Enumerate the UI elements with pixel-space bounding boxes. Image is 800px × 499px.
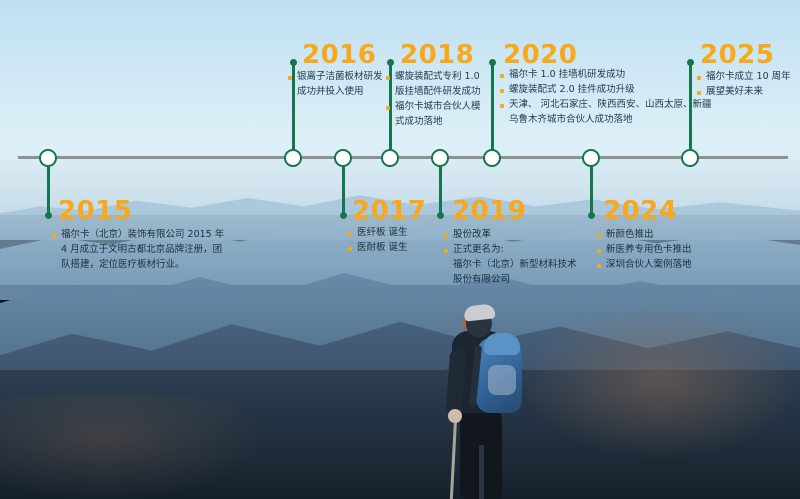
milestone-block-2015: 福尔卡（北京）装饰有限公司 2015 年 4 月成立于文明古都北京品牌注册，团 … bbox=[52, 228, 224, 273]
stem-dot-2015 bbox=[45, 212, 52, 219]
bullet-item: 医纤板 诞生 bbox=[348, 226, 408, 240]
bullet-dot-icon bbox=[597, 264, 601, 268]
bullet-text: 福尔卡（北京）装饰有限公司 2015 年 bbox=[61, 228, 224, 242]
bullet-item: 福尔卡（北京）装饰有限公司 2015 年 bbox=[52, 228, 224, 242]
bullet-dot-icon bbox=[386, 76, 390, 80]
milestone-block-2017: 医纤板 诞生 医耐板 诞生 bbox=[348, 226, 408, 256]
stem-dot-2020 bbox=[489, 59, 496, 66]
bullet-item: 成功并投入使用 bbox=[297, 85, 383, 99]
milestone-block-2025: 福尔卡成立 10 周年 展望美好未来 bbox=[697, 70, 791, 100]
stem-dot-2019 bbox=[437, 212, 444, 219]
bullet-item: 深圳合伙人案例落地 bbox=[597, 258, 692, 272]
hiker-trekking-pole bbox=[450, 417, 457, 499]
timeline-node-2025[interactable] bbox=[681, 149, 699, 167]
year-label-2017: 2017 bbox=[352, 196, 426, 226]
year-label-2019: 2019 bbox=[452, 196, 526, 226]
bullet-item: 福尔卡 1.0 挂墙机研发成功 bbox=[500, 68, 712, 82]
bullet-text: 式成功落地 bbox=[395, 115, 443, 129]
bullet-dot-icon bbox=[597, 249, 601, 253]
sunlight-glow-left bbox=[0, 395, 260, 499]
timeline-node-2019[interactable] bbox=[431, 149, 449, 167]
bullet-text: 螺旋装配式专利 1.0 bbox=[395, 70, 480, 84]
bullet-text: 乌鲁木齐城市合伙人成功落地 bbox=[509, 113, 633, 127]
bullet-text: 银离子洁菌板材研发 bbox=[297, 70, 383, 84]
bullet-item: 新医养专用色卡推出 bbox=[597, 243, 692, 257]
bullet-text: 展望美好未来 bbox=[706, 85, 763, 99]
bullet-text: 版挂墙配件研发成功 bbox=[395, 85, 481, 99]
bullet-item: 福尔卡城市合伙人模 bbox=[386, 100, 481, 114]
hiker-hand bbox=[448, 409, 462, 423]
milestone-block-2019: 股份改革 正式更名为: 福尔卡（北京）新型材料技术 股份有限公司 bbox=[444, 228, 577, 288]
bullet-item: 银离子洁菌板材研发 bbox=[288, 70, 383, 84]
bullet-text: 股份有限公司 bbox=[453, 273, 510, 287]
bullet-item: 展望美好未来 bbox=[697, 85, 791, 99]
year-label-2018: 2018 bbox=[400, 40, 474, 70]
bullet-text: 天津、 河北石家庄、陕西西安、山西太原、新疆 bbox=[509, 98, 712, 112]
stem-dot-2018 bbox=[387, 59, 394, 66]
year-label-2025: 2025 bbox=[700, 40, 774, 70]
timeline-node-2015[interactable] bbox=[39, 149, 57, 167]
year-label-2016: 2016 bbox=[302, 40, 376, 70]
bullet-dot-icon bbox=[348, 232, 352, 236]
bullet-text: 螺旋装配式 2.0 挂件成功升级 bbox=[509, 83, 635, 97]
bullet-item: 版挂墙配件研发成功 bbox=[395, 85, 481, 99]
milestone-block-2016: 银离子洁菌板材研发 成功并投入使用 bbox=[288, 70, 383, 100]
bullet-dot-icon bbox=[386, 106, 390, 110]
stem-2024 bbox=[590, 167, 593, 216]
bullet-dot-icon bbox=[444, 234, 448, 238]
bullet-dot-icon bbox=[697, 76, 701, 80]
hiker-backpack-top bbox=[484, 333, 520, 355]
timeline-node-2020[interactable] bbox=[483, 149, 501, 167]
stem-2017 bbox=[342, 167, 345, 216]
bullet-dot-icon bbox=[288, 76, 292, 80]
bullet-item: 医耐板 诞生 bbox=[348, 241, 408, 255]
stem-dot-2017 bbox=[340, 212, 347, 219]
bullet-text: 医纤板 诞生 bbox=[357, 226, 408, 240]
bullet-dot-icon bbox=[697, 91, 701, 95]
bullet-dot-icon bbox=[52, 234, 56, 238]
bullet-item: 螺旋装配式 2.0 挂件成功升级 bbox=[500, 83, 712, 97]
hiker-backpack-panel bbox=[488, 365, 516, 395]
bullet-item: 股份改革 bbox=[444, 228, 577, 242]
bullet-text: 医耐板 诞生 bbox=[357, 241, 408, 255]
stem-2020 bbox=[491, 62, 494, 152]
year-label-2015: 2015 bbox=[58, 196, 132, 226]
bullet-dot-icon bbox=[597, 234, 601, 238]
timeline-node-2016[interactable] bbox=[284, 149, 302, 167]
sunlight-glow-right bbox=[520, 300, 800, 460]
milestone-block-2024: 新颜色推出 新医养专用色卡推出 深圳合伙人案例落地 bbox=[597, 228, 692, 273]
stem-dot-2024 bbox=[588, 212, 595, 219]
bullet-dot-icon bbox=[500, 104, 504, 108]
bullet-text: 股份改革 bbox=[453, 228, 491, 242]
stem-dot-2016 bbox=[290, 59, 297, 66]
bullet-item: 式成功落地 bbox=[395, 115, 481, 129]
timeline-infographic: 2015 福尔卡（北京）装饰有限公司 2015 年 4 月成立于文明古都北京品牌… bbox=[0, 0, 800, 499]
bullet-dot-icon bbox=[500, 89, 504, 93]
bullet-item: 天津、 河北石家庄、陕西西安、山西太原、新疆 bbox=[500, 98, 712, 112]
year-label-2020: 2020 bbox=[503, 40, 577, 70]
timeline-node-2018[interactable] bbox=[381, 149, 399, 167]
year-label-2024: 2024 bbox=[603, 196, 677, 226]
bullet-item: 福尔卡成立 10 周年 bbox=[697, 70, 791, 84]
milestone-block-2018: 螺旋装配式专利 1.0 版挂墙配件研发成功 福尔卡城市合伙人模 式成功落地 bbox=[386, 70, 481, 130]
bullet-item: 福尔卡（北京）新型材料技术 bbox=[453, 258, 577, 272]
hiker-leg-gap bbox=[479, 445, 484, 499]
bullet-dot-icon bbox=[444, 249, 448, 253]
timeline-node-2024[interactable] bbox=[582, 149, 600, 167]
hiker-figure bbox=[432, 305, 552, 499]
bullet-text: 新医养专用色卡推出 bbox=[606, 243, 692, 257]
bullet-item: 螺旋装配式专利 1.0 bbox=[386, 70, 481, 84]
bullet-text: 4 月成立于文明古都北京品牌注册，团 bbox=[61, 243, 222, 257]
bullet-item: 队搭建，定位医疗板材行业。 bbox=[61, 258, 224, 272]
bullet-text: 新颜色推出 bbox=[606, 228, 654, 242]
bullet-item: 正式更名为: bbox=[444, 243, 577, 257]
stem-dot-2025 bbox=[687, 59, 694, 66]
stem-2019 bbox=[439, 167, 442, 216]
bullet-item: 乌鲁木齐城市合伙人成功落地 bbox=[509, 113, 712, 127]
bullet-text: 福尔卡成立 10 周年 bbox=[706, 70, 791, 84]
bullet-text: 队搭建，定位医疗板材行业。 bbox=[61, 258, 185, 272]
bullet-text: 福尔卡（北京）新型材料技术 bbox=[453, 258, 577, 272]
bullet-text: 福尔卡 1.0 挂墙机研发成功 bbox=[509, 68, 625, 82]
bullet-item: 4 月成立于文明古都北京品牌注册，团 bbox=[61, 243, 224, 257]
stem-2025 bbox=[689, 62, 692, 152]
stem-2015 bbox=[47, 167, 50, 216]
bullet-dot-icon bbox=[500, 74, 504, 78]
timeline-node-2017[interactable] bbox=[334, 149, 352, 167]
bullet-item: 新颜色推出 bbox=[597, 228, 692, 242]
bullet-text: 福尔卡城市合伙人模 bbox=[395, 100, 481, 114]
timeline-axis bbox=[18, 156, 788, 159]
bullet-dot-icon bbox=[348, 247, 352, 251]
bullet-text: 成功并投入使用 bbox=[297, 85, 364, 99]
bullet-text: 正式更名为: bbox=[453, 243, 504, 257]
bullet-item: 股份有限公司 bbox=[453, 273, 577, 287]
bullet-text: 深圳合伙人案例落地 bbox=[606, 258, 692, 272]
milestone-block-2020: 福尔卡 1.0 挂墙机研发成功 螺旋装配式 2.0 挂件成功升级 天津、 河北石… bbox=[500, 68, 712, 128]
